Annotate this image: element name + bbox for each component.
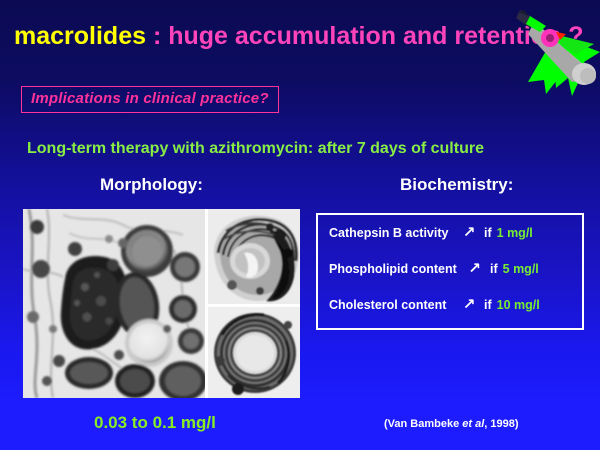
biochemistry-row-concentration: 10 mg/l	[497, 298, 540, 312]
biochemistry-results-box: Cathepsin B activity ↗ if 1 mg/l Phospho…	[316, 213, 584, 330]
rocket-dart-icon	[506, 0, 600, 100]
biochemistry-row-label: Cathepsin B activity	[329, 226, 454, 240]
implications-callout-box: Implications in clinical practice?	[21, 86, 279, 113]
citation-etal: et al	[462, 418, 484, 430]
concentration-caption: 0.03 to 0.1 mg/l	[94, 413, 216, 433]
biochemistry-row-cathepsin-b: Cathepsin B activity ↗ if 1 mg/l	[329, 224, 574, 242]
biochemistry-row-phospholipid: Phospholipid content ↗ if 5 mg/l	[329, 260, 574, 278]
increase-arrow-icon: ↗	[454, 295, 484, 313]
citation-suffix: , 1998)	[484, 418, 518, 430]
main-electron-micrograph	[23, 209, 205, 398]
section-heading-morphology: Morphology:	[100, 175, 203, 195]
increase-arrow-icon: ↗	[465, 259, 484, 277]
biochemistry-row-concentration: 5 mg/l	[503, 262, 539, 276]
title-emphasis: macrolides	[14, 22, 146, 50]
increase-arrow-icon: ↗	[454, 223, 484, 241]
slide-canvas: macrolides : huge accumulation and reten…	[0, 0, 600, 450]
micrograph-panel-group	[23, 209, 300, 398]
biochemistry-row-cholesterol: Cholesterol content ↗ if 10 mg/l	[329, 296, 574, 314]
inset-electron-micrograph-bottom	[208, 307, 300, 398]
biochemistry-row-concentration: 1 mg/l	[497, 226, 533, 240]
page-title: macrolides : huge accumulation and reten…	[14, 24, 584, 49]
biochemistry-row-if: if	[484, 298, 492, 312]
inset-electron-micrograph-top	[208, 209, 300, 304]
subtitle-text: Long-term therapy with azithromycin: aft…	[27, 140, 484, 158]
biochemistry-row-label: Cholesterol content	[329, 298, 454, 312]
citation-prefix: (Van Bambeke	[384, 418, 462, 430]
biochemistry-row-if: if	[490, 262, 498, 276]
implications-text: Implications in clinical practice?	[31, 90, 269, 107]
biochemistry-row-label: Phospholipid content	[329, 262, 465, 276]
biochemistry-row-if: if	[484, 226, 492, 240]
section-heading-biochemistry: Biochemistry:	[400, 175, 513, 195]
citation-reference: (Van Bambeke et al, 1998)	[384, 418, 519, 430]
